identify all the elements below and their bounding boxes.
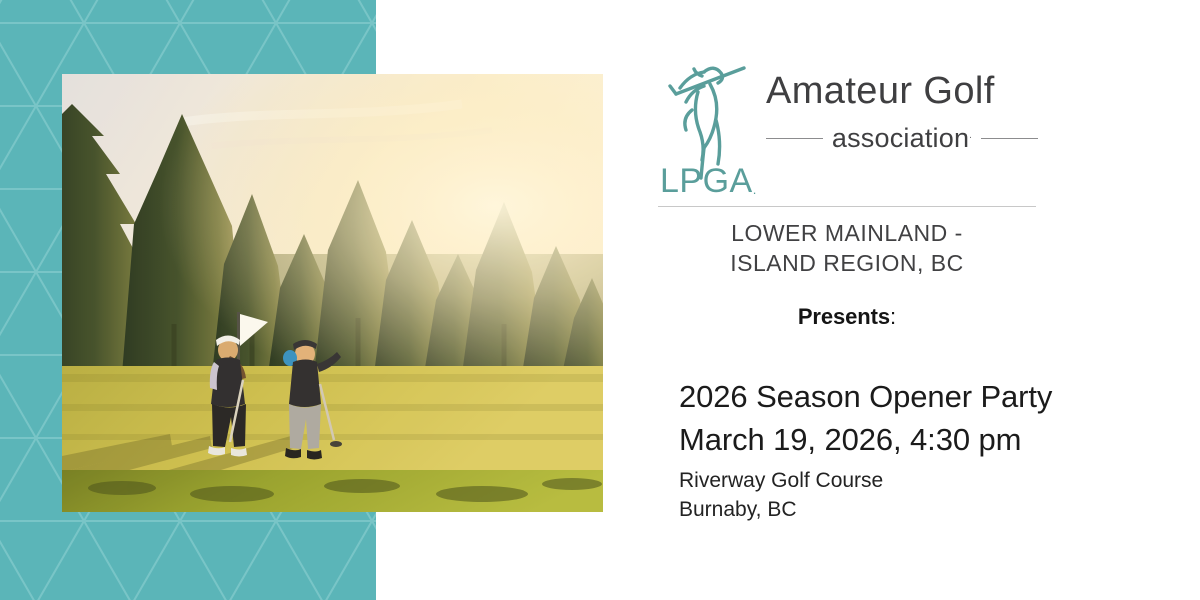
event-title: 2026 Season Opener Party — [679, 376, 1129, 419]
association-rule-right — [981, 138, 1038, 139]
golf-course-photo — [62, 74, 603, 512]
region-line-2: ISLAND REGION, BC — [650, 248, 1044, 278]
photo-illustration — [62, 74, 603, 512]
chapter-region: LOWER MAINLAND - ISLAND REGION, BC — [650, 218, 1044, 279]
association-rule-left — [766, 138, 823, 139]
lpga-golfer-swing-icon: LPGA. — [658, 58, 758, 198]
region-line-1: LOWER MAINLAND - — [650, 218, 1044, 248]
presents-colon: : — [890, 304, 896, 329]
lpga-mark-svg: LPGA. — [658, 58, 758, 198]
presents-word: Presents — [798, 304, 890, 329]
lpga-wordmark: LPGA. — [660, 162, 757, 198]
lpga-amateur-golf-association-logo: LPGA. Amateur Golf association. — [658, 58, 1038, 203]
presents-label: Presents: — [650, 306, 1044, 328]
brand-wordmark: Amateur Golf association. — [766, 72, 1038, 152]
brand-association: association. — [832, 125, 972, 152]
registered-mark: . — [969, 130, 972, 141]
header-divider — [658, 206, 1036, 207]
event-flyer: LPGA. Amateur Golf association. LOWER MA… — [0, 0, 1200, 600]
event-city: Burnaby, BC — [679, 495, 1129, 525]
brand-amateur-golf: Amateur Golf — [766, 72, 1038, 110]
brand-association-row: association. — [766, 125, 1038, 152]
event-datetime: March 19, 2026, 4:30 pm — [679, 419, 1129, 462]
content-column: LPGA. Amateur Golf association. LOWER MA… — [650, 0, 1130, 600]
event-venue: Riverway Golf Course — [679, 466, 1129, 496]
event-details: 2026 Season Opener Party March 19, 2026,… — [679, 376, 1129, 525]
